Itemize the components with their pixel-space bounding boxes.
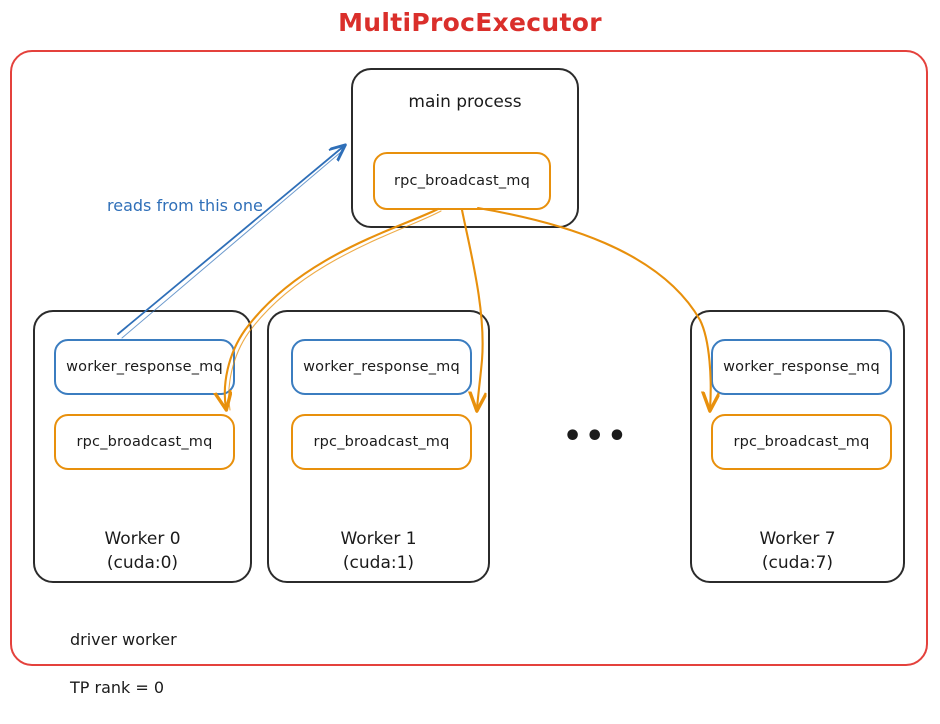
worker-7-device: (cuda:7) [692,551,903,575]
worker-0-worker-response-mq-label: worker_response_mq [66,359,223,375]
worker-0-name: Worker 0 [35,527,250,551]
worker-1-rpc-broadcast-mq[interactable]: rpc_broadcast_mq [291,414,472,470]
worker-1-rpc-broadcast-mq-label: rpc_broadcast_mq [313,434,449,450]
worker-0-rpc-broadcast-mq[interactable]: rpc_broadcast_mq [54,414,235,470]
worker-0-worker-response-mq[interactable]: worker_response_mq [54,339,235,395]
worker-1-device: (cuda:1) [269,551,488,575]
worker-0-device: (cuda:0) [35,551,250,575]
worker-1-worker-response-mq[interactable]: worker_response_mq [291,339,472,395]
main-process-box[interactable]: main process rpc_broadcast_mq [351,68,579,228]
workers-ellipsis: ••• [563,422,630,452]
page-title: MultiProcExecutor [0,8,940,37]
main-process-rpc-broadcast-mq-label: rpc_broadcast_mq [394,173,530,189]
worker-1-caption: Worker 1 (cuda:1) [269,527,488,575]
worker-7-worker-response-mq[interactable]: worker_response_mq [711,339,892,395]
worker-1-name: Worker 1 [269,527,488,551]
main-process-rpc-broadcast-mq[interactable]: rpc_broadcast_mq [373,152,551,210]
diagram-canvas: MultiProcExecutor main process rpc_broad… [0,0,940,680]
worker-box-0[interactable]: worker_response_mq rpc_broadcast_mq Work… [33,310,252,583]
worker-7-worker-response-mq-label: worker_response_mq [723,359,880,375]
worker-box-7[interactable]: worker_response_mq rpc_broadcast_mq Work… [690,310,905,583]
worker-7-caption: Worker 7 (cuda:7) [692,527,903,575]
driver-worker-note: driver worker TP rank = 0 [70,604,177,724]
worker-0-caption: Worker 0 (cuda:0) [35,527,250,575]
worker-1-worker-response-mq-label: worker_response_mq [303,359,460,375]
main-process-label: main process [353,92,577,112]
worker-box-1[interactable]: worker_response_mq rpc_broadcast_mq Work… [267,310,490,583]
worker-0-rpc-broadcast-mq-label: rpc_broadcast_mq [76,434,212,450]
worker-7-rpc-broadcast-mq-label: rpc_broadcast_mq [733,434,869,450]
worker-7-rpc-broadcast-mq[interactable]: rpc_broadcast_mq [711,414,892,470]
driver-worker-line-1: driver worker [70,628,177,652]
worker-7-name: Worker 7 [692,527,903,551]
reads-from-this-one-note: reads from this one [107,196,263,215]
